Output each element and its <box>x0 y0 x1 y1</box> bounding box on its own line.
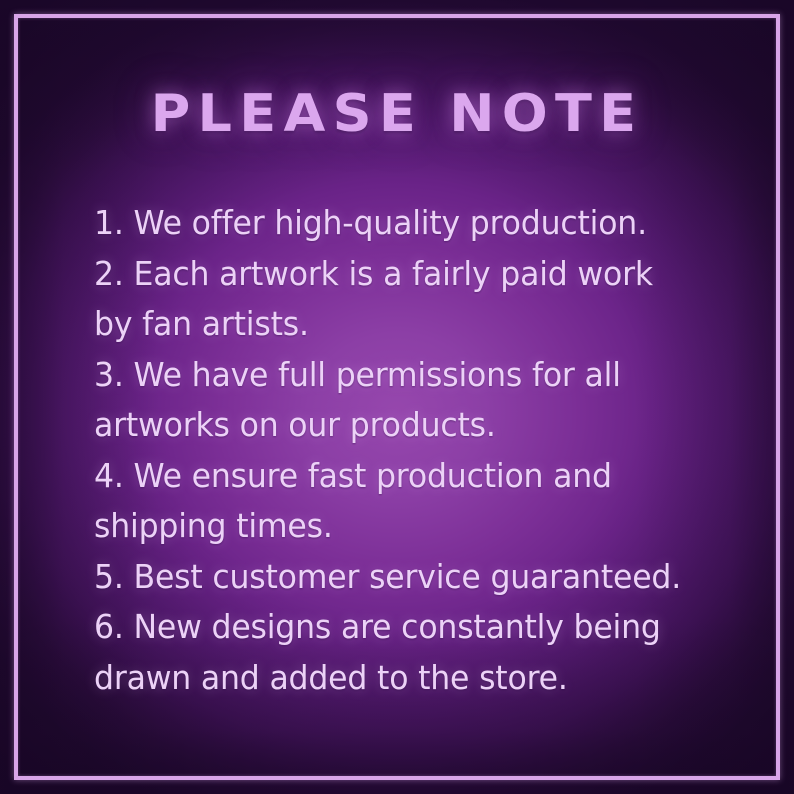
poster-content: PLEASE NOTE 1. We offer high-quality pro… <box>0 0 794 794</box>
note-line: artworks on our products. <box>94 400 705 451</box>
note-line: 6. New designs are constantly being <box>94 602 705 653</box>
note-line: 5. Best customer service guaranteed. <box>94 552 705 603</box>
note-line: 3. We have full permissions for all <box>94 350 705 401</box>
note-line: by fan artists. <box>94 299 705 350</box>
note-line: 2. Each artwork is a fairly paid work <box>94 249 705 300</box>
note-line: 4. We ensure fast production and <box>94 451 705 502</box>
note-line: drawn and added to the store. <box>94 653 705 704</box>
note-list: 1. We offer high-quality production. 2. … <box>94 198 734 703</box>
please-note-poster: PLEASE NOTE 1. We offer high-quality pro… <box>0 0 794 794</box>
note-line: 1. We offer high-quality production. <box>94 198 705 249</box>
poster-title: PLEASE NOTE <box>0 84 794 144</box>
note-line: shipping times. <box>94 501 705 552</box>
